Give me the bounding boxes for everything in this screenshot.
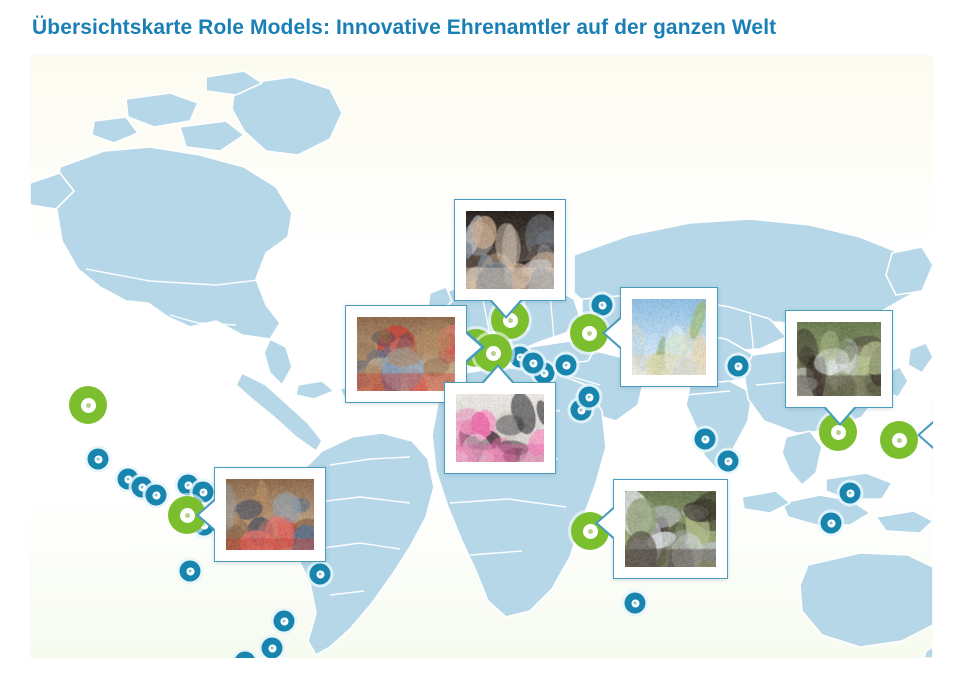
callout-tail xyxy=(465,333,481,361)
map-marker-standard[interactable] xyxy=(262,638,283,659)
map-marker-standard[interactable] xyxy=(695,429,716,450)
map-marker-standard[interactable] xyxy=(579,387,600,408)
map-marker-standard[interactable] xyxy=(180,561,201,582)
photo-callout[interactable] xyxy=(785,310,893,408)
callout-tail xyxy=(605,319,621,347)
map-marker-standard[interactable] xyxy=(625,593,646,614)
photo-callout[interactable] xyxy=(620,287,718,387)
callout-photo xyxy=(466,211,554,289)
callout-photo-image xyxy=(456,394,544,462)
callout-tail xyxy=(483,367,513,384)
photo-callout[interactable] xyxy=(613,479,728,579)
map-marker-standard[interactable] xyxy=(523,353,544,374)
map-marker-standard[interactable] xyxy=(274,611,295,632)
callout-photo-image xyxy=(226,479,314,550)
callout-tail xyxy=(825,406,855,423)
page-title: Übersichtskarte Role Models: Innovative … xyxy=(32,16,776,40)
callout-photo-image xyxy=(466,211,554,289)
callout-photo-image xyxy=(625,491,716,567)
callout-photo xyxy=(625,491,716,567)
callout-photo-image xyxy=(357,317,455,391)
map-marker-standard[interactable] xyxy=(146,485,167,506)
photo-callout[interactable] xyxy=(454,199,566,301)
photo-callout[interactable] xyxy=(444,382,556,474)
map-marker-standard[interactable] xyxy=(728,356,749,377)
map-marker-standard[interactable] xyxy=(718,451,739,472)
map-marker-standard[interactable] xyxy=(821,513,842,534)
callout-photo xyxy=(357,317,455,391)
callout-photo xyxy=(632,299,706,375)
callout-photo-image xyxy=(632,299,706,375)
callout-tail xyxy=(598,509,614,537)
callout-photo xyxy=(797,322,881,396)
map-marker-highlighted[interactable] xyxy=(69,386,107,424)
map-marker-standard[interactable] xyxy=(556,355,577,376)
map-marker-standard[interactable] xyxy=(310,564,331,585)
world-map-panel[interactable] xyxy=(30,55,933,658)
map-marker-standard[interactable] xyxy=(840,483,861,504)
map-marker-highlighted[interactable] xyxy=(880,421,918,459)
callout-photo xyxy=(226,479,314,550)
callout-photo-image xyxy=(797,322,881,396)
map-marker-standard[interactable] xyxy=(592,295,613,316)
callout-tail xyxy=(199,501,215,529)
callout-photo xyxy=(456,394,544,462)
photo-callout[interactable] xyxy=(214,467,326,562)
map-marker-standard[interactable] xyxy=(88,449,109,470)
callout-tail xyxy=(491,299,521,316)
callout-tail xyxy=(920,421,933,449)
